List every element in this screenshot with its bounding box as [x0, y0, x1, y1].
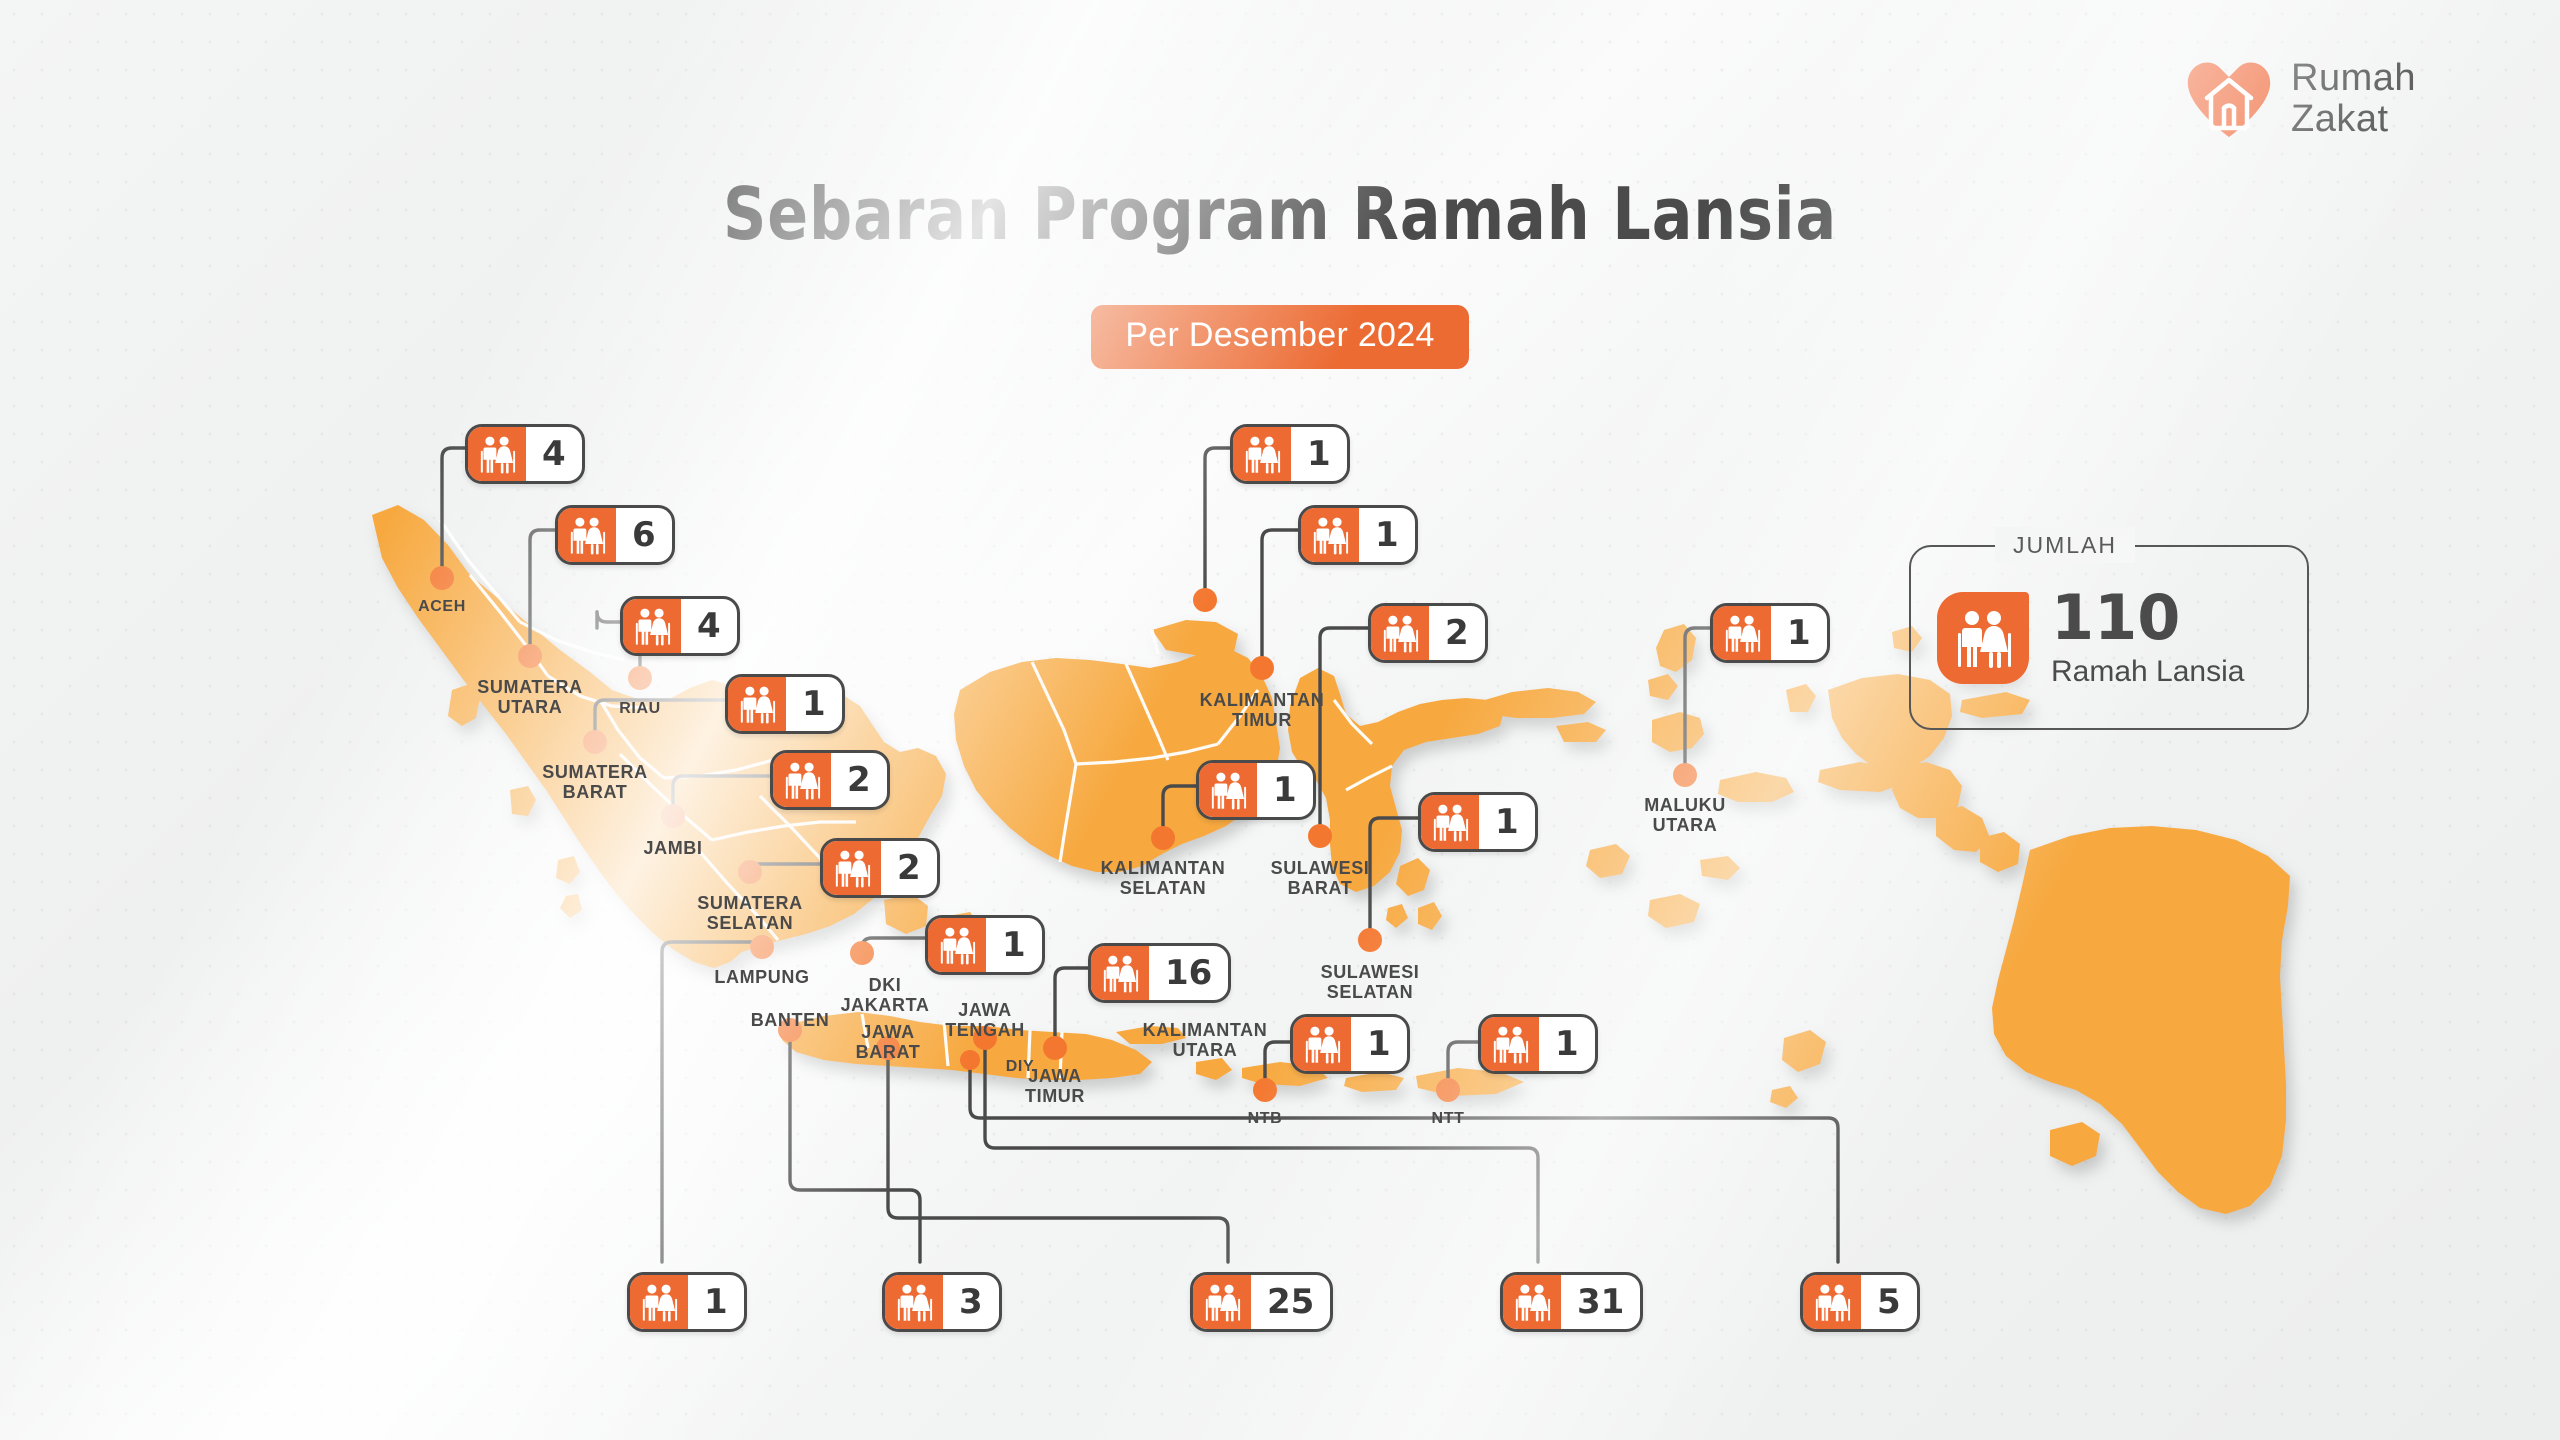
region-count-pill[interactable]: 1 — [725, 674, 845, 734]
summary-label: JUMLAH — [2013, 532, 2117, 559]
period-badge: Per Desember 2024 — [1091, 305, 1468, 369]
region-count-pill[interactable]: 1 — [1710, 603, 1830, 663]
pill-count-value: 1 — [688, 1275, 744, 1329]
pill-count-value: 4 — [526, 427, 582, 481]
elderly-couple-icon — [632, 606, 672, 646]
summary-label-notch: JUMLAH — [1995, 527, 2135, 563]
pill-count-value: 5 — [1861, 1275, 1917, 1329]
pill-count-value: 2 — [1429, 606, 1485, 660]
region-count-pill[interactable]: 3 — [882, 1272, 1002, 1332]
summary-total-value: 110 — [2051, 587, 2244, 649]
elderly-couple-icon — [1490, 1024, 1530, 1064]
pill-count-value: 1 — [1351, 1017, 1407, 1071]
elderly-couple-icon — [1202, 1282, 1242, 1322]
subtitle-container: Per Desember 2024 — [0, 305, 2560, 369]
pill-icon-tile — [558, 508, 616, 562]
pill-count-value: 3 — [943, 1275, 999, 1329]
region-count-pill[interactable]: 2 — [1368, 603, 1488, 663]
pill-icon-tile — [468, 427, 526, 481]
region-count-pill[interactable]: 1 — [627, 1272, 747, 1332]
summary-text-block: 110 Ramah Lansia — [2051, 587, 2244, 689]
elderly-couple-icon — [567, 515, 607, 555]
pill-icon-tile — [1193, 1275, 1251, 1329]
elderly-couple-icon — [937, 925, 977, 965]
elderly-couple-icon — [1100, 953, 1140, 993]
pill-count-value: 1 — [1771, 606, 1827, 660]
elderly-couple-icon — [639, 1282, 679, 1322]
pill-icon-tile — [1421, 795, 1479, 849]
pill-count-value: 1 — [786, 677, 842, 731]
elderly-couple-icon — [1812, 1282, 1852, 1322]
elderly-couple-icon — [477, 434, 517, 474]
pill-icon-tile — [1301, 508, 1359, 562]
pill-icon-tile — [1371, 606, 1429, 660]
region-count-pill[interactable]: 1 — [1298, 505, 1418, 565]
region-count-pill[interactable]: 31 — [1500, 1272, 1643, 1332]
elderly-couple-icon — [1310, 515, 1350, 555]
logo-line-2: Zakat — [2291, 99, 2416, 140]
pill-count-value: 1 — [1257, 763, 1313, 817]
elderly-couple-icon — [737, 684, 777, 724]
pill-icon-tile — [773, 753, 831, 807]
pill-icon-tile — [1199, 763, 1257, 817]
pill-icon-tile — [1293, 1017, 1351, 1071]
region-count-pill[interactable]: 4 — [465, 424, 585, 484]
elderly-couple-icon — [1242, 434, 1282, 474]
pill-count-value: 31 — [1561, 1275, 1640, 1329]
region-count-pill[interactable]: 1 — [1418, 792, 1538, 852]
pill-icon-tile — [885, 1275, 943, 1329]
region-count-pill[interactable]: 25 — [1190, 1272, 1333, 1332]
page-title: Sebaran Program Ramah Lansia — [90, 172, 2471, 256]
logo-wordmark: Rumah Zakat — [2291, 58, 2416, 140]
pill-count-value: 1 — [986, 918, 1042, 972]
pill-count-value: 1 — [1291, 427, 1347, 481]
summary-icon-tile — [1937, 592, 2029, 684]
pill-icon-tile — [823, 841, 881, 895]
pill-count-value: 4 — [681, 599, 737, 653]
pill-icon-tile — [630, 1275, 688, 1329]
pill-count-value: 1 — [1479, 795, 1535, 849]
elderly-couple-icon — [1302, 1024, 1342, 1064]
brand-logo: Rumah Zakat — [2185, 58, 2416, 140]
elderly-couple-icon — [1512, 1282, 1552, 1322]
pill-count-value: 25 — [1251, 1275, 1330, 1329]
pill-count-value: 2 — [881, 841, 937, 895]
region-count-pill[interactable]: 4 — [620, 596, 740, 656]
summary-caption: Ramah Lansia — [2051, 655, 2244, 689]
pill-icon-tile — [1503, 1275, 1561, 1329]
summary-panel: 110 Ramah Lansia — [1909, 545, 2309, 730]
elderly-couple-icon — [1208, 770, 1248, 810]
pill-icon-tile — [623, 599, 681, 653]
elderly-couple-icon — [832, 848, 872, 888]
elderly-couple-icon — [1430, 802, 1470, 842]
pill-count-value: 6 — [616, 508, 672, 562]
logo-line-1: Rumah — [2291, 58, 2416, 99]
heart-house-icon — [2185, 58, 2273, 140]
region-count-pill[interactable]: 1 — [1230, 424, 1350, 484]
elderly-couple-icon — [894, 1282, 934, 1322]
elderly-couple-icon — [782, 760, 822, 800]
elderly-couple-icon — [1722, 613, 1762, 653]
pill-icon-tile — [1481, 1017, 1539, 1071]
pill-count-value: 1 — [1539, 1017, 1595, 1071]
pill-count-value: 1 — [1359, 508, 1415, 562]
elderly-couple-icon — [1380, 613, 1420, 653]
region-count-pill[interactable]: 1 — [925, 915, 1045, 975]
pill-icon-tile — [728, 677, 786, 731]
region-count-pill[interactable]: 1 — [1196, 760, 1316, 820]
region-count-pill[interactable]: 2 — [820, 838, 940, 898]
pill-count-value: 2 — [831, 753, 887, 807]
region-count-pill[interactable]: 1 — [1290, 1014, 1410, 1074]
region-count-pill[interactable]: 6 — [555, 505, 675, 565]
region-count-pill[interactable]: 5 — [1800, 1272, 1920, 1332]
pill-icon-tile — [1713, 606, 1771, 660]
pill-icon-tile — [1091, 946, 1149, 1000]
region-count-pill[interactable]: 2 — [770, 750, 890, 810]
region-count-pill[interactable]: 16 — [1088, 943, 1231, 1003]
pill-icon-tile — [928, 918, 986, 972]
pill-icon-tile — [1803, 1275, 1861, 1329]
region-count-pill[interactable]: 1 — [1478, 1014, 1598, 1074]
pill-count-value: 16 — [1149, 946, 1228, 1000]
elderly-couple-icon — [1952, 607, 2014, 669]
pill-icon-tile — [1233, 427, 1291, 481]
